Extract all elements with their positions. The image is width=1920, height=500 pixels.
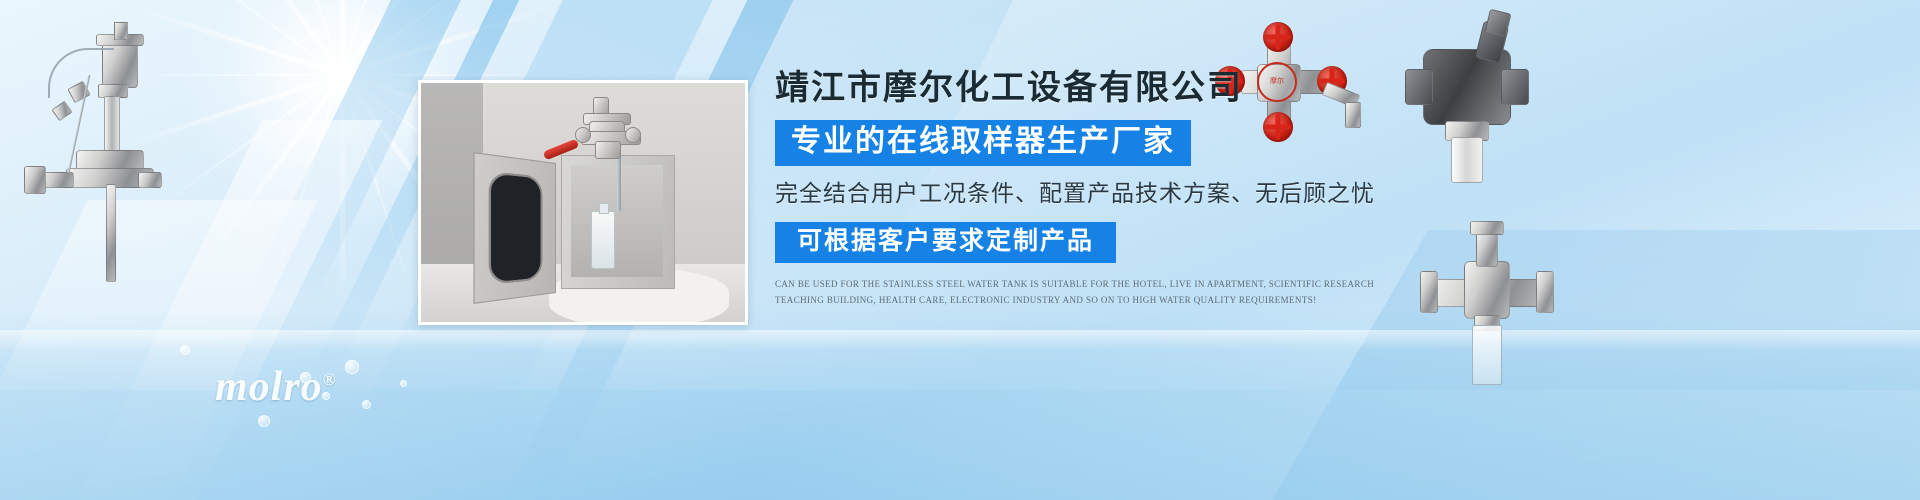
horizon-glow: [0, 330, 1920, 350]
right-valve-product-image: [1405, 25, 1540, 190]
company-name: 靖江市摩尔化工设备有限公司: [775, 72, 1415, 106]
bubble-icon: [400, 380, 407, 387]
bubble-icon: [362, 400, 371, 409]
bubble-icon: [345, 360, 359, 374]
custom-order-badge: 可根据客户要求定制产品: [775, 222, 1116, 263]
center-product-image: [418, 80, 748, 325]
bubble-icon: [258, 415, 270, 427]
headline-badge: 专业的在线取样器生产厂家: [775, 120, 1191, 166]
bubble-icon: [180, 345, 190, 355]
watermark-logo: molro®: [215, 363, 336, 411]
english-description: CAN BE USED FOR THE STAINLESS STEEL WATE…: [775, 277, 1385, 309]
registered-trademark-icon: ®: [323, 370, 337, 389]
left-product-image: [10, 22, 160, 282]
description-text: 完全结合用户工况条件、配置产品技术方案、无后顾之忧: [775, 182, 1415, 205]
banner-text-block: 靖江市摩尔化工设备有限公司 专业的在线取样器生产厂家 完全结合用户工况条件、配置…: [775, 72, 1415, 309]
watermark-logo-text: molro: [215, 364, 323, 410]
right-bottom-product-image: [1420, 225, 1555, 390]
product-banner: 摩尔 靖江市摩尔化工设备有限公司 专业的在线取样器生产厂家 完全结合用户工况条件…: [0, 0, 1920, 500]
